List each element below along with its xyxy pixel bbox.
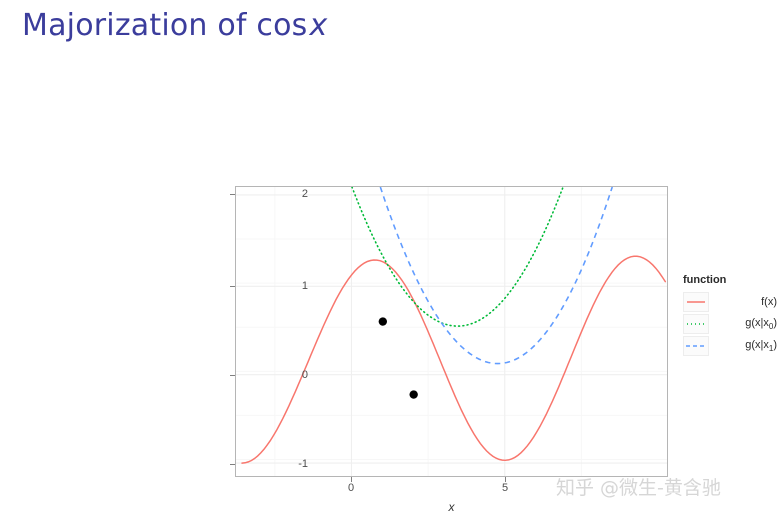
plot-svg — [236, 187, 667, 476]
page-title-variable: x — [308, 8, 328, 43]
legend-label-gx1-suffix: ) — [773, 339, 777, 351]
legend-key-gx1-dashed-line — [683, 336, 709, 356]
legend-key-gx0-dotted-line — [683, 314, 709, 334]
grid-minor — [236, 187, 667, 476]
chart-figure: 2 1 0 -1 0 5 x function f(x) — [200, 180, 779, 514]
legend-item-gx0[interactable]: g(x|x0) — [683, 313, 779, 335]
x-tick-label-5: 5 — [502, 482, 508, 494]
page-title: Majorization of cosx — [22, 8, 327, 43]
tangency-point-x0 — [379, 317, 387, 325]
y-tick-mark-1 — [230, 286, 235, 287]
x-tick-mark-5 — [505, 477, 506, 482]
legend-label-gx0-suffix: ) — [773, 317, 777, 329]
series-gx1-curve — [380, 187, 612, 364]
page-title-text: Majorization of cos — [22, 8, 308, 43]
legend-label-gx0-text: g(x|x — [745, 317, 769, 329]
chart-legend: function f(x) g(x|x0) — [683, 274, 779, 357]
series-gx0-curve — [352, 187, 563, 326]
slide-canvas: Majorization of cosx — [0, 0, 779, 514]
y-tick-mark-neg1 — [230, 464, 235, 465]
legend-key-fx-solid-line — [683, 292, 709, 312]
y-tick-mark-0 — [230, 375, 235, 376]
legend-label-gx0: g(x|x0) — [709, 317, 779, 331]
y-tick-label-0: 0 — [302, 369, 308, 381]
x-tick-mark-0 — [351, 477, 352, 482]
plot-panel — [235, 186, 668, 477]
x-axis-label: x — [235, 500, 668, 514]
legend-item-gx1[interactable]: g(x|x1) — [683, 335, 779, 357]
tangency-point-x1 — [409, 390, 417, 398]
legend-title: function — [683, 274, 779, 286]
x-tick-label-0: 0 — [348, 482, 354, 494]
watermark: 知乎 @微生-黄含驰 — [556, 473, 721, 500]
y-tick-label-1: 1 — [302, 280, 308, 292]
legend-label-gx1: g(x|x1) — [709, 339, 779, 353]
y-tick-label-2: 2 — [302, 188, 308, 200]
y-tick-label-neg1: -1 — [298, 458, 308, 470]
legend-label-fx: f(x) — [709, 296, 779, 308]
legend-label-gx1-text: g(x|x — [745, 339, 769, 351]
y-tick-mark-2 — [230, 194, 235, 195]
legend-item-fx[interactable]: f(x) — [683, 291, 779, 313]
grid-major — [236, 187, 667, 476]
